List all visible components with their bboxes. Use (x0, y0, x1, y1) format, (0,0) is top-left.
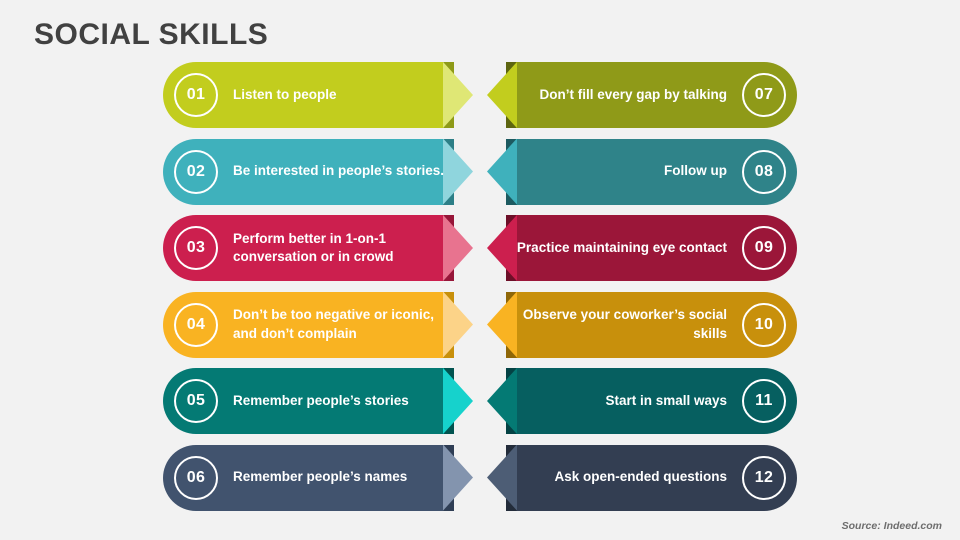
skill-number-badge: 01 (174, 73, 218, 117)
social-skills-diagram: 01Listen to people07Don’t fill every gap… (0, 62, 960, 502)
skill-number-badge: 10 (742, 303, 786, 347)
skill-label: Perform better in 1-on-1 conversation or… (233, 215, 453, 281)
skill-label: Observe your coworker’s social skills (507, 292, 727, 358)
skill-label: Don’t be too negative or iconic, and don… (233, 292, 453, 358)
skill-item-03[interactable]: 03Perform better in 1-on-1 conversation … (163, 215, 473, 281)
skill-item-05[interactable]: 05Remember people’s stories (163, 368, 473, 434)
skill-item-02[interactable]: 02Be interested in people’s stories. (163, 139, 473, 205)
skill-label: Practice maintaining eye contact (507, 215, 727, 281)
skill-number-badge: 04 (174, 303, 218, 347)
skill-number-badge: 07 (742, 73, 786, 117)
skill-number-badge: 11 (742, 379, 786, 423)
skill-label: Don’t fill every gap by talking (507, 62, 727, 128)
skill-item-12[interactable]: 12Ask open-ended questions (487, 445, 797, 511)
skill-label: Remember people’s names (233, 445, 453, 511)
skill-number-badge: 06 (174, 456, 218, 500)
skill-number-badge: 02 (174, 150, 218, 194)
skill-item-09[interactable]: 09Practice maintaining eye contact (487, 215, 797, 281)
skill-item-06[interactable]: 06Remember people’s names (163, 445, 473, 511)
skill-label: Start in small ways (507, 368, 727, 434)
skill-label: Follow up (507, 139, 727, 205)
skill-item-04[interactable]: 04Don’t be too negative or iconic, and d… (163, 292, 473, 358)
skill-label: Ask open-ended questions (507, 445, 727, 511)
source-attribution: Source: Indeed.com (842, 520, 942, 532)
skill-item-08[interactable]: 08Follow up (487, 139, 797, 205)
skill-label: Remember people’s stories (233, 368, 453, 434)
skill-item-10[interactable]: 10Observe your coworker’s social skills (487, 292, 797, 358)
skill-number-badge: 05 (174, 379, 218, 423)
skill-item-11[interactable]: 11Start in small ways (487, 368, 797, 434)
diagram-row: 04Don’t be too negative or iconic, and d… (0, 292, 960, 358)
page-title: SOCIAL SKILLS (34, 18, 268, 52)
skill-number-badge: 08 (742, 150, 786, 194)
diagram-row: 02Be interested in people’s stories.08Fo… (0, 139, 960, 205)
skill-number-badge: 03 (174, 226, 218, 270)
diagram-row: 01Listen to people07Don’t fill every gap… (0, 62, 960, 128)
skill-number-badge: 09 (742, 226, 786, 270)
diagram-row: 06Remember people’s names12Ask open-ende… (0, 445, 960, 511)
skill-item-01[interactable]: 01Listen to people (163, 62, 473, 128)
skill-label: Be interested in people’s stories. (233, 139, 453, 205)
diagram-row: 05Remember people’s stories11Start in sm… (0, 368, 960, 434)
skill-item-07[interactable]: 07Don’t fill every gap by talking (487, 62, 797, 128)
diagram-row: 03Perform better in 1-on-1 conversation … (0, 215, 960, 281)
skill-number-badge: 12 (742, 456, 786, 500)
skill-label: Listen to people (233, 62, 453, 128)
